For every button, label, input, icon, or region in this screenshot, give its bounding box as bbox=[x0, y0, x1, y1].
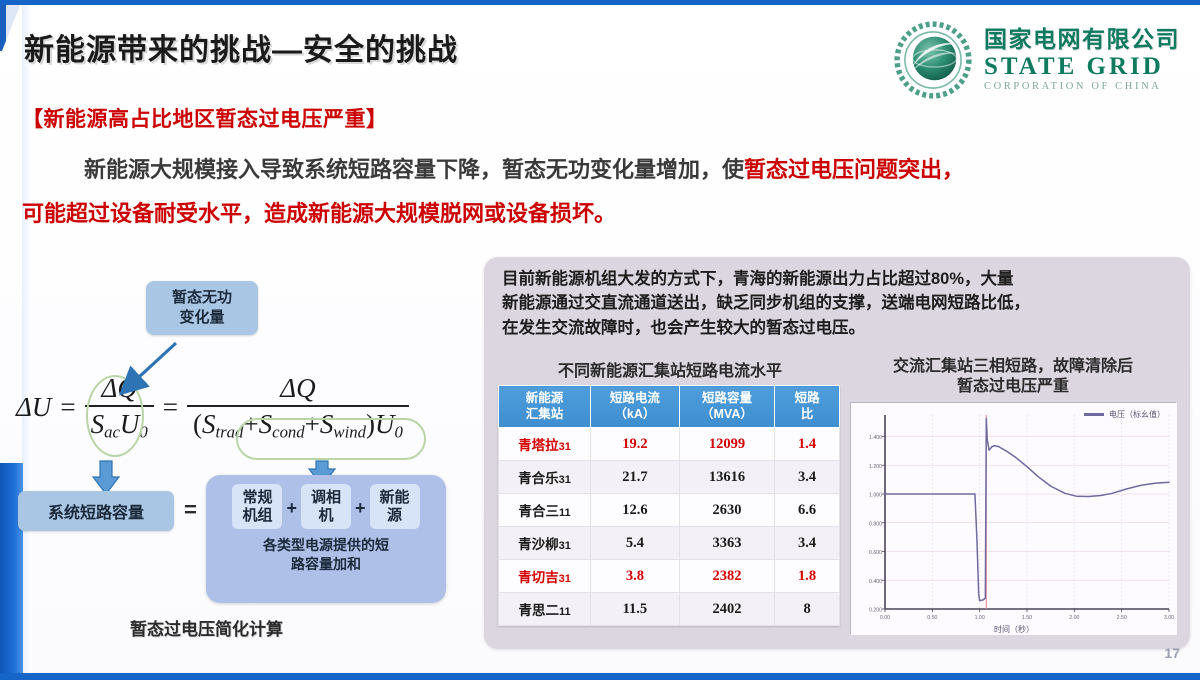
th-capacity: 短路容量 （MVA） bbox=[679, 386, 774, 428]
component-chip-condenser: 调相 机 bbox=[301, 484, 351, 529]
figure-caption: 暂态过电压简化计算 bbox=[130, 615, 283, 640]
svg-text:0.00: 0.00 bbox=[880, 615, 890, 621]
chart-title-line2: 暂态过电压严重 bbox=[852, 377, 1174, 397]
cell-capacity: 3363 bbox=[679, 527, 774, 560]
page-number: 17 bbox=[1164, 645, 1180, 661]
table-header-row: 新能源 汇集站 短路电流 （kA） 短路容量 （MVA） 短路 比 bbox=[499, 386, 840, 428]
cell-current: 12.6 bbox=[591, 494, 680, 527]
th-station-line2: 汇集站 bbox=[501, 407, 588, 423]
station-name: 青思二 bbox=[518, 603, 559, 618]
cell-capacity: 12099 bbox=[679, 428, 774, 461]
chip3-line2: 源 bbox=[376, 507, 414, 525]
station-name: 青切吉 bbox=[518, 570, 559, 585]
legend-label: 电压（标幺值） bbox=[1109, 409, 1165, 420]
logo-chinese-name: 国家电网有限公司 bbox=[984, 28, 1180, 51]
legend-swatch-icon bbox=[1084, 413, 1104, 416]
cell-station: 青切吉31 bbox=[499, 560, 591, 593]
th-current-line1: 短路电流 bbox=[593, 391, 677, 407]
svg-text:0.600: 0.600 bbox=[869, 550, 882, 556]
slide-root: 新能源带来的挑战—安全的挑战 bbox=[0, 0, 1200, 680]
chip1-line2: 机组 bbox=[238, 507, 276, 525]
callout-line-1: 暂态无功 bbox=[152, 288, 252, 308]
formula-equals-1: = bbox=[60, 392, 75, 423]
station-suffix: 31 bbox=[559, 474, 571, 486]
components-box-caption: 各类型电源提供的短 路容量加和 bbox=[206, 536, 446, 572]
highlight-ellipse-sum bbox=[236, 418, 426, 460]
right-panel-paragraph: 目前新能源机组大发的方式下，青海的新能源出力占比超过80%，大量 新能源通过交直… bbox=[502, 267, 1174, 340]
formula-lhs: ΔU bbox=[16, 392, 51, 423]
chip-plus-2: + bbox=[355, 484, 366, 519]
chip3-line1: 新能 bbox=[376, 489, 414, 507]
station-name: 青沙柳 bbox=[518, 537, 559, 552]
cell-station: 青合三11 bbox=[499, 494, 591, 527]
cell-ratio: 1.8 bbox=[775, 560, 840, 593]
cell-ratio: 8 bbox=[775, 593, 840, 626]
th-station: 新能源 汇集站 bbox=[499, 386, 591, 428]
cell-station: 青塔拉31 bbox=[499, 428, 591, 461]
right-paragraph-line3: 在发生交流故障时，也会产生较大的暂态过电压。 bbox=[502, 316, 1174, 340]
svg-text:0.200: 0.200 bbox=[869, 608, 882, 614]
box-caption-line1: 各类型电源提供的短 bbox=[216, 536, 436, 554]
page-title: 新能源带来的挑战—安全的挑战 bbox=[24, 25, 458, 69]
cell-current: 3.8 bbox=[591, 560, 680, 593]
station-name: 青塔拉 bbox=[518, 438, 559, 453]
cell-station: 青思二11 bbox=[499, 593, 591, 626]
table-body: 青塔拉31 19.2 12099 1.4 青合乐31 21.7 13616 3.… bbox=[499, 428, 840, 626]
fraction2-numerator: ΔQ bbox=[274, 373, 321, 405]
cell-station: 青合乐31 bbox=[499, 461, 591, 494]
svg-text:2.50: 2.50 bbox=[1117, 615, 1127, 621]
station-suffix: 31 bbox=[559, 573, 571, 585]
svg-text:0.800: 0.800 bbox=[869, 521, 882, 527]
component-chip-renewable: 新能 源 bbox=[370, 484, 420, 529]
svg-text:1.50: 1.50 bbox=[1022, 615, 1032, 621]
svg-text:1.400: 1.400 bbox=[869, 435, 882, 441]
cell-capacity: 2382 bbox=[679, 560, 774, 593]
table-row: 青合乐31 21.7 13616 3.4 bbox=[499, 461, 840, 494]
paragraph-plain-text: 新能源大规模接入导致系统短路容量下降，暂态无功变化量增加，使 bbox=[84, 157, 744, 182]
th-station-line1: 新能源 bbox=[501, 391, 588, 407]
logo-english-name: STATE GRID bbox=[984, 54, 1180, 79]
th-ratio-line1: 短路 bbox=[777, 391, 837, 407]
svg-text:1.00: 1.00 bbox=[975, 615, 985, 621]
chart-x-axis-label: 时间（秒） bbox=[851, 624, 1177, 635]
svg-text:3.00: 3.00 bbox=[1164, 615, 1174, 621]
transient-overvoltage-chart: 1.4001.2001.0000.8000.6000.4000.2000.000… bbox=[850, 402, 1176, 634]
th-ratio: 短路 比 bbox=[775, 386, 840, 428]
cell-ratio: 1.4 bbox=[775, 428, 840, 461]
cell-capacity: 2630 bbox=[679, 494, 774, 527]
down-arrow-left bbox=[93, 461, 119, 494]
table-row: 青沙柳31 5.4 3363 3.4 bbox=[499, 527, 840, 560]
den2-open-paren: ( bbox=[193, 409, 202, 439]
den2-term1: S bbox=[202, 409, 216, 439]
table-row: 青塔拉31 19.2 12099 1.4 bbox=[499, 428, 840, 461]
short-circuit-current-table: 新能源 汇集站 短路电流 （kA） 短路容量 （MVA） 短路 比 bbox=[498, 385, 840, 626]
capacity-components-box: 常规 机组 + 调相 机 + 新能 源 各类型电源提供的短 路容量加和 bbox=[206, 475, 446, 603]
chip-plus-1: + bbox=[286, 484, 297, 519]
body-paragraph-line1: 新能源大规模接入导致系统短路容量下降，暂态无功变化量增加，使暂态过电压问题突出， bbox=[22, 153, 1182, 187]
component-chip-conventional: 常规 机组 bbox=[232, 484, 282, 529]
cell-ratio: 3.4 bbox=[775, 527, 840, 560]
svg-text:0.400: 0.400 bbox=[869, 579, 882, 585]
th-current-line2: （kA） bbox=[593, 407, 677, 423]
state-grid-globe-icon bbox=[894, 21, 972, 99]
brand-logo: 国家电网有限公司 STATE GRID CORPORATION OF CHINA bbox=[894, 21, 1180, 99]
cell-capacity: 13616 bbox=[679, 461, 774, 494]
right-content-panel: 目前新能源机组大发的方式下，青海的新能源出力占比超过80%，大量 新能源通过交直… bbox=[484, 257, 1190, 649]
chart-legend: 电压（标幺值） bbox=[1084, 409, 1165, 420]
th-current: 短路电流 （kA） bbox=[591, 386, 680, 428]
chip2-line2: 机 bbox=[307, 507, 345, 525]
station-suffix: 11 bbox=[559, 606, 571, 618]
station-name: 青合乐 bbox=[518, 471, 559, 486]
chip1-line1: 常规 bbox=[238, 489, 276, 507]
station-suffix: 31 bbox=[559, 540, 571, 552]
cell-current: 11.5 bbox=[591, 593, 680, 626]
callout-line-2: 变化量 bbox=[152, 308, 252, 328]
formula-diagram: 暂态无功 变化量 ΔU = ΔQ SacU0 = ΔQ (Strad+Scond… bbox=[0, 263, 478, 663]
chart-title: 交流汇集站三相短路，故障清除后 暂态过电压严重 bbox=[852, 357, 1174, 398]
formula-equals-2: = bbox=[163, 392, 178, 423]
body-paragraph-line2: 可能超过设备耐受水平，造成新能源大规模脱网或设备损坏。 bbox=[22, 197, 1182, 231]
cell-current: 5.4 bbox=[591, 527, 680, 560]
table-row: 青思二11 11.5 2402 8 bbox=[499, 593, 840, 626]
station-suffix: 31 bbox=[559, 441, 571, 453]
station-suffix: 11 bbox=[559, 507, 571, 519]
th-capacity-line1: 短路容量 bbox=[682, 391, 772, 407]
station-name: 青合三 bbox=[518, 504, 559, 519]
svg-text:1.000: 1.000 bbox=[869, 493, 882, 499]
box-caption-line2: 路容量加和 bbox=[216, 555, 436, 573]
logo-english-subtitle: CORPORATION OF CHINA bbox=[984, 82, 1180, 93]
svg-text:0.50: 0.50 bbox=[927, 615, 937, 621]
chip2-line1: 调相 bbox=[307, 489, 345, 507]
cell-capacity: 2402 bbox=[679, 593, 774, 626]
right-paragraph-line1: 目前新能源机组大发的方式下，青海的新能源出力占比超过80%，大量 bbox=[502, 267, 1174, 291]
system-short-circuit-capacity-pill: 系统短路容量 bbox=[18, 491, 174, 531]
th-ratio-line2: 比 bbox=[777, 407, 837, 423]
highlight-ellipse-sac bbox=[86, 375, 144, 457]
svg-text:2.00: 2.00 bbox=[1069, 615, 1079, 621]
cell-ratio: 3.4 bbox=[775, 461, 840, 494]
table-row: 青合三11 12.6 2630 6.6 bbox=[499, 494, 840, 527]
table-row: 青切吉31 3.8 2382 1.8 bbox=[499, 560, 840, 593]
cell-station: 青沙柳31 bbox=[499, 527, 591, 560]
chart-plot-svg: 1.4001.2001.0000.8000.6000.4000.2000.000… bbox=[851, 403, 1177, 635]
chart-title-line1: 交流汇集站三相短路，故障清除后 bbox=[852, 357, 1174, 377]
section-heading: 【新能源高占比地区暂态过电压严重】 bbox=[22, 103, 388, 133]
cell-ratio: 6.6 bbox=[775, 494, 840, 527]
svg-text:1.200: 1.200 bbox=[869, 464, 882, 470]
capacity-equals-sign: = bbox=[184, 497, 197, 523]
paragraph-highlight-text: 暂态过电压问题突出， bbox=[744, 157, 964, 182]
callout-transient-reactive: 暂态无功 变化量 bbox=[146, 281, 258, 335]
table-title: 不同新能源汇集站短路电流水平 bbox=[500, 357, 840, 381]
right-paragraph-line2: 新能源通过交直流通道送出，缺乏同步机组的支撑，送端电网短路比低， bbox=[502, 291, 1174, 315]
th-capacity-line2: （MVA） bbox=[682, 407, 772, 423]
cell-current: 21.7 bbox=[591, 461, 680, 494]
cell-current: 19.2 bbox=[591, 428, 680, 461]
